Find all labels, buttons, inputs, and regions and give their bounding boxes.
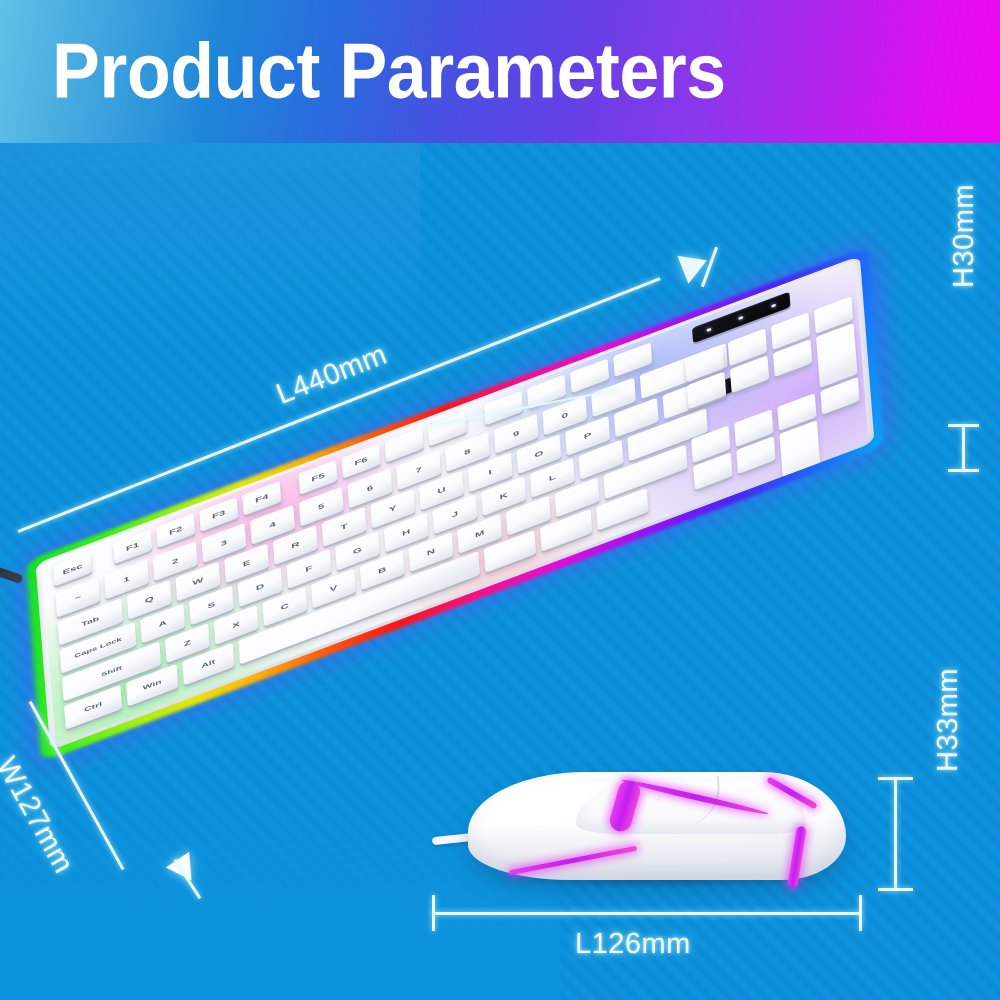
- led-dot-icon: [771, 303, 776, 307]
- dimension-line-mouse-length: [432, 912, 862, 915]
- dimension-endcap-left-mouse-length: [432, 895, 435, 931]
- page-title: Product Parameters: [52, 31, 784, 109]
- dimension-label-keyboard-height: H30mm: [948, 184, 981, 288]
- dimension-endcap-top-mouse-height: [878, 777, 913, 780]
- dimension-endcap-bottom-mouse-height: [878, 888, 913, 891]
- dimension-endcap-bottom-keyboard-height: [948, 469, 979, 472]
- led-dot-icon: [739, 315, 744, 319]
- keyboard-body: Esc F1 F2 F3 F4 F5 F6 ~ 1: [36, 256, 875, 751]
- led-dot-icon: [706, 327, 711, 331]
- mouse-body: [468, 772, 846, 880]
- header-banner: Product Parameters: [0, 0, 1000, 144]
- dimension-line-keyboard-height: [962, 424, 965, 472]
- keyboard-deck: Esc F1 F2 F3 F4 F5 F6 ~ 1: [36, 256, 875, 751]
- keyboard-cable: [0, 553, 24, 584]
- page-title-text: Product Parameters: [52, 31, 726, 109]
- infographic-canvas: Product Parameters Esc F1: [0, 0, 1000, 1000]
- mouse-product-image: [432, 760, 882, 910]
- dimension-label-mouse-height: H33mm: [932, 668, 965, 772]
- dimension-label-mouse-length: L126mm: [575, 928, 691, 961]
- dimension-endcap-top-keyboard-height: [948, 424, 979, 427]
- mouse-rgb-strip-lower: [509, 846, 638, 876]
- dimension-endcap-right-mouse-length: [859, 895, 862, 931]
- dimension-line-mouse-height: [894, 777, 897, 891]
